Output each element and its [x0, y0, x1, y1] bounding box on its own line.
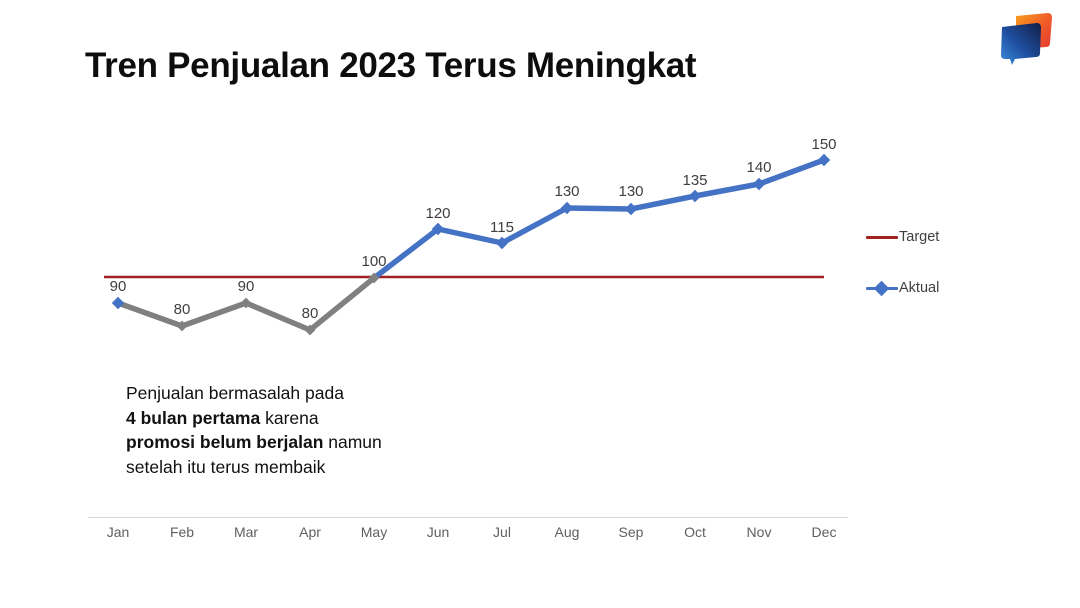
- data-label-jun: 120: [425, 205, 450, 222]
- axis-label-jan: Jan: [107, 524, 130, 540]
- legend-swatch-target-icon: [866, 230, 898, 244]
- axis-label-feb: Feb: [170, 524, 194, 540]
- data-label-mar: 90: [238, 278, 255, 295]
- legend-swatch-aktual-icon: [866, 281, 898, 295]
- annotation-line-1-text: Penjualan bermasalah pada: [126, 383, 344, 403]
- data-point-marker-oct[interactable]: [689, 190, 701, 202]
- axis-label-nov: Nov: [747, 524, 772, 540]
- data-label-may: 100: [361, 253, 386, 270]
- legend-item-aktual[interactable]: Aktual: [866, 279, 939, 297]
- data-label-aug: 130: [554, 183, 579, 200]
- axis-label-oct: Oct: [684, 524, 706, 540]
- legend-label-aktual: Aktual: [899, 280, 939, 296]
- annotation-line-4: setelah itu terus membaik: [126, 455, 382, 480]
- annotation-line-2: 4 bulan pertama karena: [126, 406, 382, 431]
- annotation-line-3: promosi belum berjalan namun: [126, 430, 382, 455]
- data-label-jul: 115: [490, 219, 514, 236]
- annotation-line-3-bold: promosi belum berjalan: [126, 432, 323, 452]
- axis-label-may: May: [361, 524, 387, 540]
- category-axis-line: [88, 517, 848, 518]
- data-point-marker-sep[interactable]: [625, 203, 637, 215]
- axis-label-sep: Sep: [619, 524, 644, 540]
- axis-label-jun: Jun: [427, 524, 450, 540]
- data-label-feb: 80: [174, 301, 191, 318]
- legend-item-target[interactable]: Target: [866, 228, 939, 246]
- annotation-line-2-text: karena: [260, 408, 318, 428]
- insight-annotation: Penjualan bermasalah pada 4 bulan pertam…: [126, 381, 382, 479]
- axis-label-aug: Aug: [555, 524, 580, 540]
- axis-label-dec: Dec: [812, 524, 837, 540]
- data-label-nov: 140: [746, 159, 771, 176]
- data-label-sep: 130: [618, 183, 643, 200]
- data-label-apr: 80: [302, 305, 319, 322]
- axis-label-apr: Apr: [299, 524, 321, 540]
- axis-label-mar: Mar: [234, 524, 258, 540]
- data-label-dec: 150: [811, 136, 836, 153]
- aktual-series-markers: [112, 154, 830, 336]
- axis-label-jul: Jul: [493, 524, 511, 540]
- annotation-line-3-text: namun: [323, 432, 381, 452]
- annotation-line-1: Penjualan bermasalah pada: [126, 381, 382, 406]
- data-label-oct: 135: [682, 172, 707, 189]
- legend-label-target: Target: [899, 229, 939, 245]
- annotation-line-2-bold: 4 bulan pertama: [126, 408, 260, 428]
- data-label-jan: 90: [110, 278, 127, 295]
- annotation-line-4-text: setelah itu terus membaik: [126, 457, 325, 477]
